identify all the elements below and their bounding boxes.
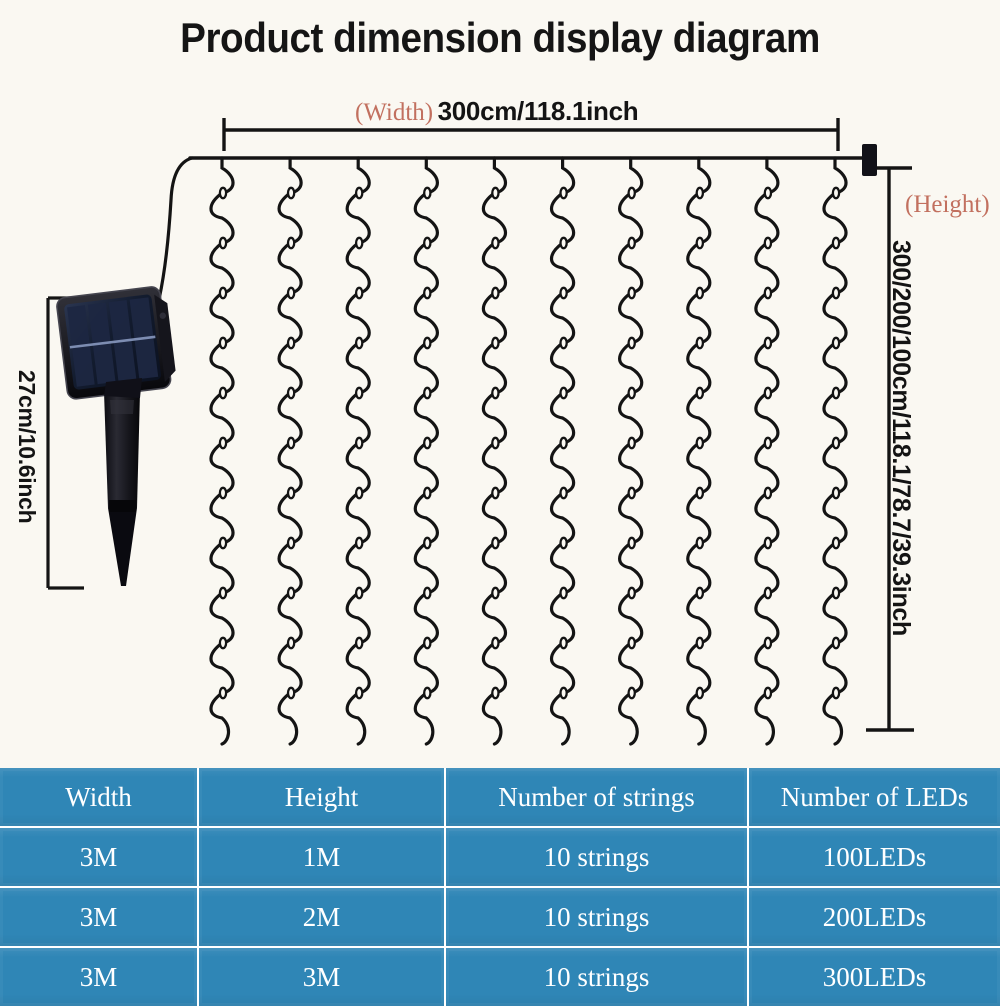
led-bulb (492, 438, 498, 448)
led-bulb (765, 638, 771, 648)
led-bulb (288, 688, 294, 698)
led-bulb (629, 438, 635, 448)
led-bulb (424, 638, 430, 648)
led-bulb (356, 638, 362, 648)
height-dimension-label: (Height) (905, 192, 990, 217)
led-bulb (833, 488, 839, 498)
led-bulb (833, 388, 839, 398)
led-bulb (288, 638, 294, 648)
led-bulb (697, 638, 703, 648)
led-bulb (765, 488, 771, 498)
led-bulb (492, 288, 498, 298)
led-bulb (697, 288, 703, 298)
led-bulb (765, 538, 771, 548)
led-bulb (492, 538, 498, 548)
cell-height: 3M (198, 947, 445, 1006)
cell-strings: 10 strings (445, 887, 748, 947)
led-bulb (833, 588, 839, 598)
cell-strings: 10 strings (445, 947, 748, 1006)
height-dimension-value: 300/200/100cm/118.1/78.7/39.3inch (888, 240, 913, 636)
cell-strings: 10 strings (445, 827, 748, 887)
spec-table-head: Width Height Number of strings Number of… (0, 768, 1000, 827)
led-bulb (492, 238, 498, 248)
led-bulb (424, 688, 430, 698)
led-bulb (833, 638, 839, 648)
led-bulb (697, 388, 703, 398)
end-connector (862, 144, 877, 176)
led-bulb (765, 338, 771, 348)
led-bulb (424, 438, 430, 448)
led-bulb (765, 238, 771, 248)
led-bulb (765, 288, 771, 298)
led-bulb (629, 338, 635, 348)
led-bulb (561, 688, 567, 698)
led-bulb (561, 638, 567, 648)
led-bulb (356, 688, 362, 698)
led-bulb (220, 588, 226, 598)
led-bulb (424, 488, 430, 498)
height-value-text: 300/200/100cm/118.1/78.7/39.3inch (887, 240, 915, 636)
column-header-strings: Number of strings (445, 768, 748, 827)
led-bulb (424, 538, 430, 548)
led-bulb (356, 488, 362, 498)
led-bulb (288, 588, 294, 598)
cell-width: 3M (0, 827, 198, 887)
led-bulb (492, 388, 498, 398)
led-bulb (288, 288, 294, 298)
led-bulb (424, 238, 430, 248)
led-bulb (561, 288, 567, 298)
led-bulb (492, 638, 498, 648)
led-bulb (356, 188, 362, 198)
led-bulb (220, 688, 226, 698)
led-bulb (833, 438, 839, 448)
led-bulb (492, 488, 498, 498)
led-bulb (356, 338, 362, 348)
product-dimension-diagram-page: Product dimension display diagram (0, 0, 1000, 1000)
table-row: 3M 1M 10 strings 100LEDs (0, 827, 1000, 887)
cell-leds: 300LEDs (748, 947, 1000, 1006)
led-bulb (561, 388, 567, 398)
led-bulb (220, 338, 226, 348)
led-bulb (765, 388, 771, 398)
height-label-text: (Height) (905, 191, 990, 218)
led-bulb (288, 338, 294, 348)
led-bulb (356, 388, 362, 398)
led-bulb (765, 588, 771, 598)
cell-leds: 200LEDs (748, 887, 1000, 947)
led-bulb (356, 538, 362, 548)
led-bulb (492, 338, 498, 348)
led-bulb (765, 688, 771, 698)
led-bulb (220, 288, 226, 298)
led-bulb (220, 388, 226, 398)
led-bulb (765, 188, 771, 198)
panel-dimension-label: 27cm/10.6inch (15, 370, 38, 523)
led-bulb (356, 288, 362, 298)
led-bulb (220, 638, 226, 648)
led-bulb (424, 588, 430, 598)
led-bulb (629, 388, 635, 398)
led-bulb (833, 338, 839, 348)
led-bulb (424, 288, 430, 298)
led-bulb (220, 438, 226, 448)
led-bulb (629, 638, 635, 648)
ground-stake (104, 392, 140, 586)
table-row: 3M 2M 10 strings 200LEDs (0, 887, 1000, 947)
spec-table: Width Height Number of strings Number of… (0, 768, 1000, 1006)
column-header-height: Height (198, 768, 445, 827)
led-string-group (211, 158, 846, 744)
column-header-width: Width (0, 768, 198, 827)
width-dimension-label: (Width) 300cm/118.1inch (355, 98, 638, 125)
led-bulb (561, 488, 567, 498)
led-bulb (561, 188, 567, 198)
led-bulb (288, 388, 294, 398)
led-bulb (697, 588, 703, 598)
led-bulb (833, 688, 839, 698)
led-bulb (492, 588, 498, 598)
led-bulb (288, 188, 294, 198)
led-bulb (561, 438, 567, 448)
led-bulb (697, 238, 703, 248)
led-bulb (356, 438, 362, 448)
led-bulb (220, 488, 226, 498)
led-bulb (424, 388, 430, 398)
led-bulb (356, 588, 362, 598)
led-bulb (697, 438, 703, 448)
spec-table-body: 3M 1M 10 strings 100LEDs 3M 2M 10 string… (0, 827, 1000, 1006)
led-bulb (561, 238, 567, 248)
cell-height: 2M (198, 887, 445, 947)
led-bulb (765, 438, 771, 448)
led-bulb (833, 238, 839, 248)
led-bulb (220, 188, 226, 198)
width-value-text: 300cm/118.1inch (438, 96, 639, 126)
led-bulb (697, 338, 703, 348)
width-label-text: (Width) (355, 99, 433, 126)
led-bulb (833, 538, 839, 548)
led-bulb (561, 338, 567, 348)
cell-width: 3M (0, 887, 198, 947)
led-bulb (288, 238, 294, 248)
led-bulb (492, 688, 498, 698)
led-bulb (629, 288, 635, 298)
cell-height: 1M (198, 827, 445, 887)
led-bulb (629, 588, 635, 598)
led-bulb (629, 488, 635, 498)
led-bulb (697, 538, 703, 548)
led-bulb (629, 238, 635, 248)
led-bulb (220, 538, 226, 548)
led-bulb (697, 688, 703, 698)
led-bulb (629, 188, 635, 198)
led-bulb (833, 188, 839, 198)
cell-width: 3M (0, 947, 198, 1006)
led-bulb (833, 288, 839, 298)
led-bulb (424, 338, 430, 348)
led-bulb (697, 488, 703, 498)
led-bulb (356, 238, 362, 248)
led-bulb (288, 438, 294, 448)
table-header-row: Width Height Number of strings Number of… (0, 768, 1000, 827)
led-bulb (220, 238, 226, 248)
led-bulb (492, 188, 498, 198)
cell-leds: 100LEDs (748, 827, 1000, 887)
panel-value-text: 27cm/10.6inch (14, 370, 40, 523)
solar-panel-unit (56, 285, 178, 586)
led-bulb (288, 488, 294, 498)
led-bulb (697, 188, 703, 198)
table-row: 3M 3M 10 strings 300LEDs (0, 947, 1000, 1006)
led-bulb (561, 538, 567, 548)
led-bulb (629, 688, 635, 698)
led-bulb (424, 188, 430, 198)
led-bulb (288, 538, 294, 548)
led-bulb (561, 588, 567, 598)
led-bulb (629, 538, 635, 548)
column-header-leds: Number of LEDs (748, 768, 1000, 827)
